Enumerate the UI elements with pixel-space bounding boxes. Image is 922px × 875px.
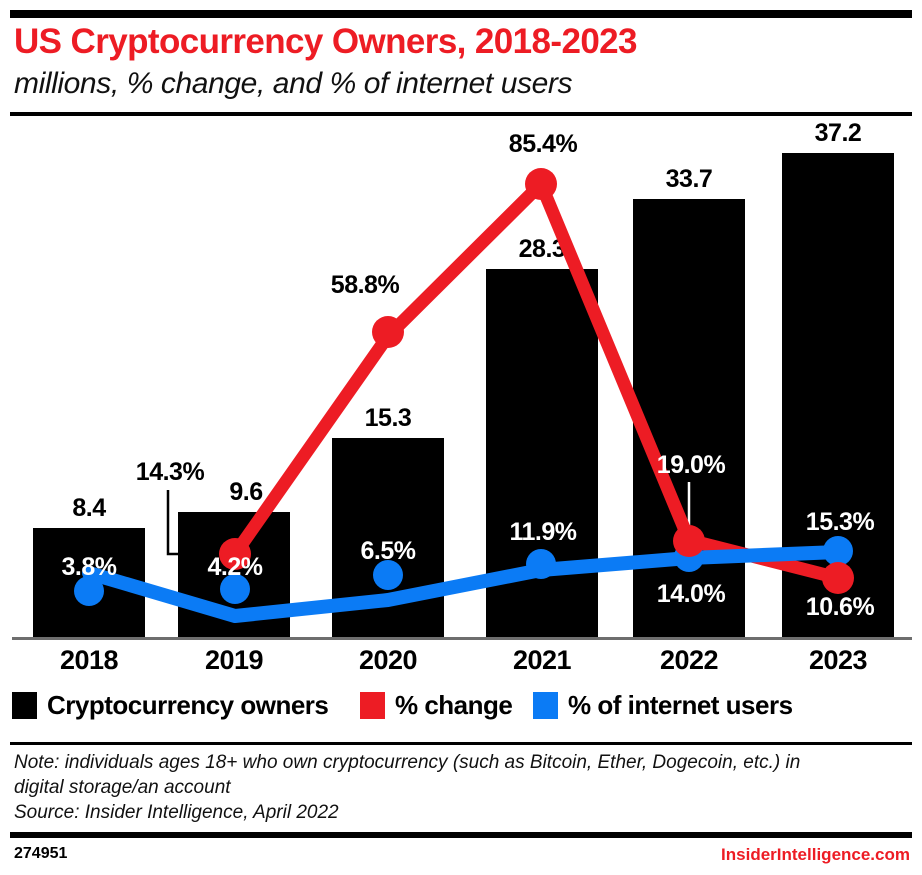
pct-internet-label-2018: 3.8% (29, 553, 149, 582)
x-tick-2022: 2022 (633, 645, 745, 676)
pct-internet-label-2020: 6.5% (328, 537, 448, 566)
note-line-2: digital storage/an account (14, 775, 914, 800)
legend-item-cryptocurrency-owners[interactable]: Cryptocurrency owners (12, 690, 328, 721)
marker-change-2020 (372, 316, 404, 348)
marker-change-2022 (673, 525, 705, 557)
brand-link[interactable]: InsiderIntelligence.com (721, 845, 910, 865)
x-tick-2023: 2023 (782, 645, 894, 676)
legend-swatch-blue-icon (533, 692, 558, 719)
legend-label-pct-internet-users: % of internet users (568, 690, 793, 721)
marker-change-2023 (822, 562, 854, 594)
pct-change-label-2022: 19.0% (626, 451, 756, 480)
pct-internet-label-2022: 14.0% (626, 580, 756, 609)
pct-internet-label-2021: 11.9% (478, 518, 608, 547)
x-tick-2021: 2021 (486, 645, 598, 676)
plot-area: 8.4 9.6 15.3 28.3 33.7 37.2 (0, 116, 922, 640)
legend-item-pct-internet-users[interactable]: % of internet users (533, 690, 793, 721)
chart-legend: Cryptocurrency owners % change % of inte… (0, 690, 922, 724)
legend-label-pct-change: % change (395, 690, 512, 721)
pct-internet-label-2019: 4.2% (175, 553, 295, 582)
legend-label-cryptocurrency-owners: Cryptocurrency owners (47, 690, 328, 721)
pct-internet-label-2023: 15.3% (775, 508, 905, 537)
x-axis-baseline (12, 637, 912, 640)
source-line: Source: Insider Intelligence, April 2022 (14, 800, 914, 825)
x-tick-2020: 2020 (332, 645, 444, 676)
chart-subtitle: millions, % change, and % of internet us… (14, 66, 904, 102)
note-line-1: Note: individuals ages 18+ who own crypt… (14, 750, 914, 775)
pct-change-label-2019: 14.3% (110, 458, 230, 487)
chart-page: US Cryptocurrency Owners, 2018-2023 mill… (0, 0, 922, 875)
pct-change-label-2021: 85.4% (478, 130, 608, 159)
legend-swatch-red-icon (360, 692, 385, 719)
x-axis: 2018 2019 2020 2021 2022 2023 (0, 645, 922, 681)
chart-title: US Cryptocurrency Owners, 2018-2023 (14, 22, 904, 62)
pct-change-label-2020: 58.8% (300, 271, 430, 300)
x-tick-2019: 2019 (178, 645, 290, 676)
legend-item-pct-change[interactable]: % change (360, 690, 512, 721)
pct-change-label-2023: 10.6% (775, 593, 905, 622)
footnotes: Note: individuals ages 18+ who own crypt… (14, 750, 914, 825)
chart-id: 274951 (14, 845, 67, 863)
legend-bottom-rule (10, 742, 912, 745)
footer-rule (10, 832, 912, 838)
marker-internet-2021 (526, 549, 556, 579)
x-tick-2018: 2018 (33, 645, 145, 676)
header-top-rule (10, 10, 912, 18)
marker-change-2021 (525, 168, 557, 200)
marker-internet-2023 (823, 536, 853, 566)
legend-swatch-black-icon (12, 692, 37, 719)
